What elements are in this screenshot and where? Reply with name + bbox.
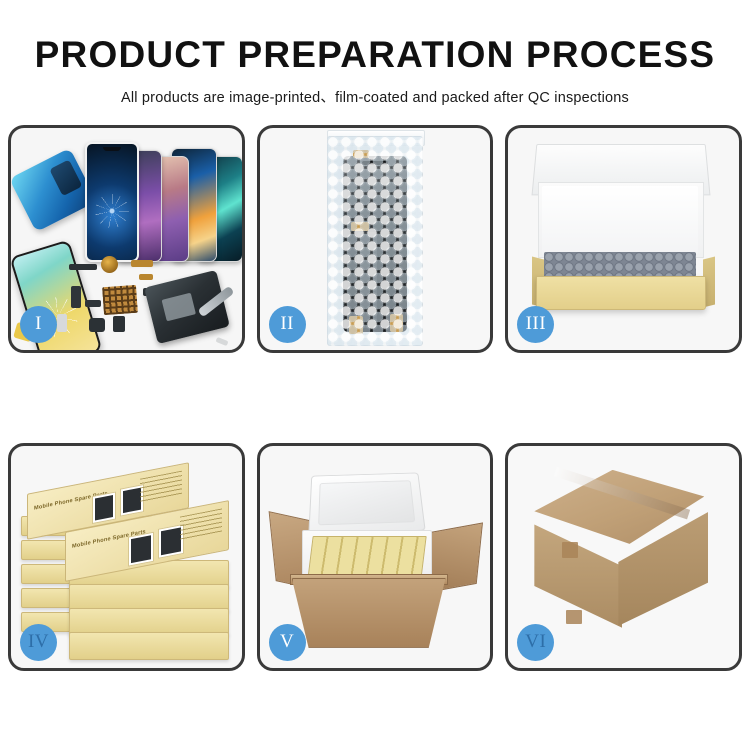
retail-box-stack: Mobile Phone Spare Parts Mobile Phone Sp…	[21, 464, 227, 656]
foam-cooler-lid-icon	[308, 472, 425, 534]
carton-tab-lower-icon	[566, 610, 582, 624]
process-step-5: V	[257, 443, 494, 671]
carton-body-icon	[292, 578, 446, 648]
process-step-6: VI	[505, 443, 742, 671]
phone-screen-fan	[75, 142, 243, 262]
step-badge-5: V	[269, 624, 306, 661]
carton-tab-upper-icon	[562, 542, 578, 558]
speaker-module-icon	[101, 256, 118, 273]
bubble-texture-icon	[327, 136, 423, 346]
flex-cable-icon	[71, 286, 81, 308]
phone-screen-cracked-icon	[85, 142, 139, 262]
step-5-illustration: V	[260, 446, 491, 668]
phone-notch-icon	[103, 147, 121, 151]
battery-connector-icon	[113, 316, 125, 332]
step-badge-2: II	[269, 306, 306, 343]
step-badge-3: III	[517, 306, 554, 343]
bubble-wrap-bag	[327, 136, 423, 346]
flex-cable-small-icon	[85, 300, 101, 307]
screw-icon	[215, 337, 228, 346]
box-thumb-second-a	[128, 531, 154, 566]
step-4-illustration: Mobile Phone Spare Parts Mobile Phone Sp…	[11, 446, 242, 668]
chip-grid-icon	[102, 285, 138, 315]
mailer-box-front-icon	[536, 276, 706, 310]
connector-chip-icon	[69, 264, 97, 270]
process-step-3: III	[505, 125, 742, 353]
step-3-illustration: III	[508, 128, 739, 350]
box-thumb-top-a	[92, 491, 116, 524]
step-6-illustration: VI	[508, 446, 739, 668]
gold-flex-icon	[131, 260, 153, 267]
camera-module-icon	[89, 318, 105, 332]
product-preparation-process-page: PRODUCT PREPARATION PROCESS All products…	[0, 0, 750, 750]
box-feature-lines-top	[140, 470, 182, 504]
process-step-2: II	[257, 125, 494, 353]
gold-contact-icon	[139, 274, 153, 280]
step-badge-4: IV	[20, 624, 57, 661]
sim-tray-icon	[57, 314, 67, 332]
step-badge-1: I	[20, 306, 57, 343]
foam-sheet-icon	[542, 186, 698, 254]
process-step-grid: I II	[4, 125, 746, 671]
step-1-illustration: I	[11, 128, 242, 350]
page-title: PRODUCT PREPARATION PROCESS	[0, 36, 750, 75]
screen-crack-icon	[95, 194, 129, 228]
page-subtitle: All products are image-printed、film-coat…	[0, 86, 750, 107]
box-feature-lines-second	[180, 508, 222, 542]
step-2-illustration: II	[260, 128, 491, 350]
step-badge-6: VI	[517, 624, 554, 661]
page-header: PRODUCT PREPARATION PROCESS All products…	[0, 0, 750, 107]
stacked-box-front-1	[69, 632, 229, 660]
process-step-1: I	[8, 125, 245, 353]
process-step-4: Mobile Phone Spare Parts Mobile Phone Sp…	[8, 443, 245, 671]
phone-logic-board-icon	[144, 270, 230, 344]
